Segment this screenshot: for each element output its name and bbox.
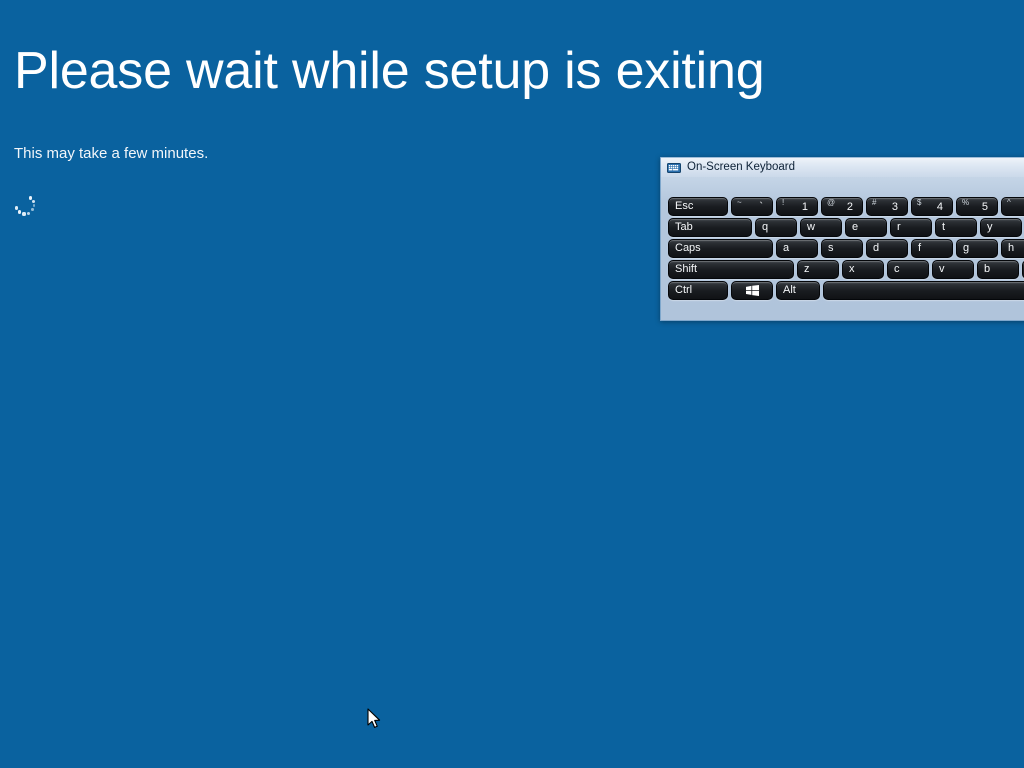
- key-w[interactable]: w: [800, 218, 842, 237]
- spinner-dot: [15, 206, 18, 209]
- key-label: `: [759, 202, 763, 213]
- osk-caps-row: Capsasdfghj: [668, 239, 1024, 258]
- key-label: Ctrl: [675, 285, 692, 296]
- osk-shift-row: Shiftzxcvbnm: [668, 260, 1024, 279]
- key-label: Alt: [783, 285, 796, 296]
- key-shift-glyph: @: [827, 199, 835, 207]
- key-ctrl[interactable]: Ctrl: [668, 281, 728, 300]
- key-v[interactable]: v: [932, 260, 974, 279]
- page-title: Please wait while setup is exiting: [14, 44, 764, 99]
- key-1[interactable]: !1: [776, 197, 818, 216]
- key-h[interactable]: h: [1001, 239, 1024, 258]
- key-label: b: [984, 264, 990, 275]
- key-6[interactable]: ^6: [1001, 197, 1024, 216]
- key-windows[interactable]: [731, 281, 773, 300]
- key-label: w: [807, 222, 815, 233]
- osk-key-area: Esc~`!1@2#3$4%5^6&7TabqwertyuiCapsasdfgh…: [661, 177, 1024, 320]
- windows-logo-icon: [746, 285, 759, 296]
- key-caps[interactable]: Caps: [668, 239, 773, 258]
- spinner-dot: [27, 212, 30, 215]
- key-label: e: [852, 222, 858, 233]
- key-label: x: [849, 264, 855, 275]
- key-label: c: [894, 264, 900, 275]
- key-s[interactable]: s: [821, 239, 863, 258]
- page-subtitle: This may take a few minutes.: [14, 145, 208, 162]
- osk-tab-row: Tabqwertyui: [668, 218, 1024, 237]
- key-label: s: [828, 243, 834, 254]
- key-e[interactable]: e: [845, 218, 887, 237]
- windows-setup-screen: Please wait while setup is exiting This …: [0, 0, 1024, 768]
- key-esc[interactable]: Esc: [668, 197, 728, 216]
- spinner-dot: [32, 200, 35, 203]
- key-label: f: [918, 243, 921, 254]
- osk-title-label: On-Screen Keyboard: [687, 162, 795, 174]
- key-g[interactable]: g: [956, 239, 998, 258]
- key-label: Tab: [675, 222, 693, 233]
- key-t[interactable]: t: [935, 218, 977, 237]
- key-label: Esc: [675, 201, 693, 212]
- osk-ctrl-row: CtrlAlt: [668, 281, 1024, 300]
- key-b[interactable]: b: [977, 260, 1019, 279]
- key-[interactable]: ~`: [731, 197, 773, 216]
- key-5[interactable]: %5: [956, 197, 998, 216]
- osk-function-number-row: Esc~`!1@2#3$4%5^6&7: [668, 197, 1024, 216]
- key-shift-glyph: $: [917, 199, 921, 207]
- spinner-dot: [18, 210, 21, 213]
- key-c[interactable]: c: [887, 260, 929, 279]
- key-shift-glyph: ~: [737, 199, 742, 207]
- key-label: d: [873, 243, 879, 254]
- key-label: Shift: [675, 264, 697, 275]
- key-y[interactable]: y: [980, 218, 1022, 237]
- key-shift-glyph: #: [872, 199, 876, 207]
- key-label: z: [804, 264, 810, 275]
- key-tab[interactable]: Tab: [668, 218, 752, 237]
- key-label: 3: [892, 202, 898, 213]
- key-label: 2: [847, 202, 853, 213]
- key-label: h: [1008, 243, 1014, 254]
- key-shift-glyph: !: [782, 199, 784, 207]
- on-screen-keyboard-window[interactable]: On-Screen Keyboard Esc~`!1@2#3$4%5^6&7Ta…: [660, 157, 1024, 321]
- keyboard-icon: [667, 163, 681, 173]
- key-a[interactable]: a: [776, 239, 818, 258]
- key-label: a: [783, 243, 789, 254]
- key-3[interactable]: #3: [866, 197, 908, 216]
- key-shift-glyph: %: [962, 199, 969, 207]
- osk-title-bar[interactable]: On-Screen Keyboard: [661, 157, 1024, 177]
- key-r[interactable]: r: [890, 218, 932, 237]
- spinner-dot: [22, 212, 25, 215]
- key-label: q: [762, 222, 768, 233]
- key-2[interactable]: @2: [821, 197, 863, 216]
- loading-spinner: [12, 192, 38, 218]
- key-d[interactable]: d: [866, 239, 908, 258]
- key-4[interactable]: $4: [911, 197, 953, 216]
- key-label: r: [897, 222, 901, 233]
- key-space[interactable]: [823, 281, 1024, 300]
- key-label: g: [963, 243, 969, 254]
- spinner-dot: [31, 208, 34, 211]
- spinner-dot: [33, 204, 36, 207]
- key-label: 4: [937, 202, 943, 213]
- key-label: Caps: [675, 243, 701, 254]
- key-label: y: [987, 222, 993, 233]
- key-q[interactable]: q: [755, 218, 797, 237]
- key-f[interactable]: f: [911, 239, 953, 258]
- key-label: v: [939, 264, 945, 275]
- key-label: t: [942, 222, 945, 233]
- key-alt[interactable]: Alt: [776, 281, 820, 300]
- key-x[interactable]: x: [842, 260, 884, 279]
- key-z[interactable]: z: [797, 260, 839, 279]
- key-label: 5: [982, 202, 988, 213]
- key-shift[interactable]: Shift: [668, 260, 794, 279]
- key-label: 1: [802, 202, 808, 213]
- key-shift-glyph: ^: [1007, 199, 1011, 207]
- mouse-pointer: [367, 708, 381, 729]
